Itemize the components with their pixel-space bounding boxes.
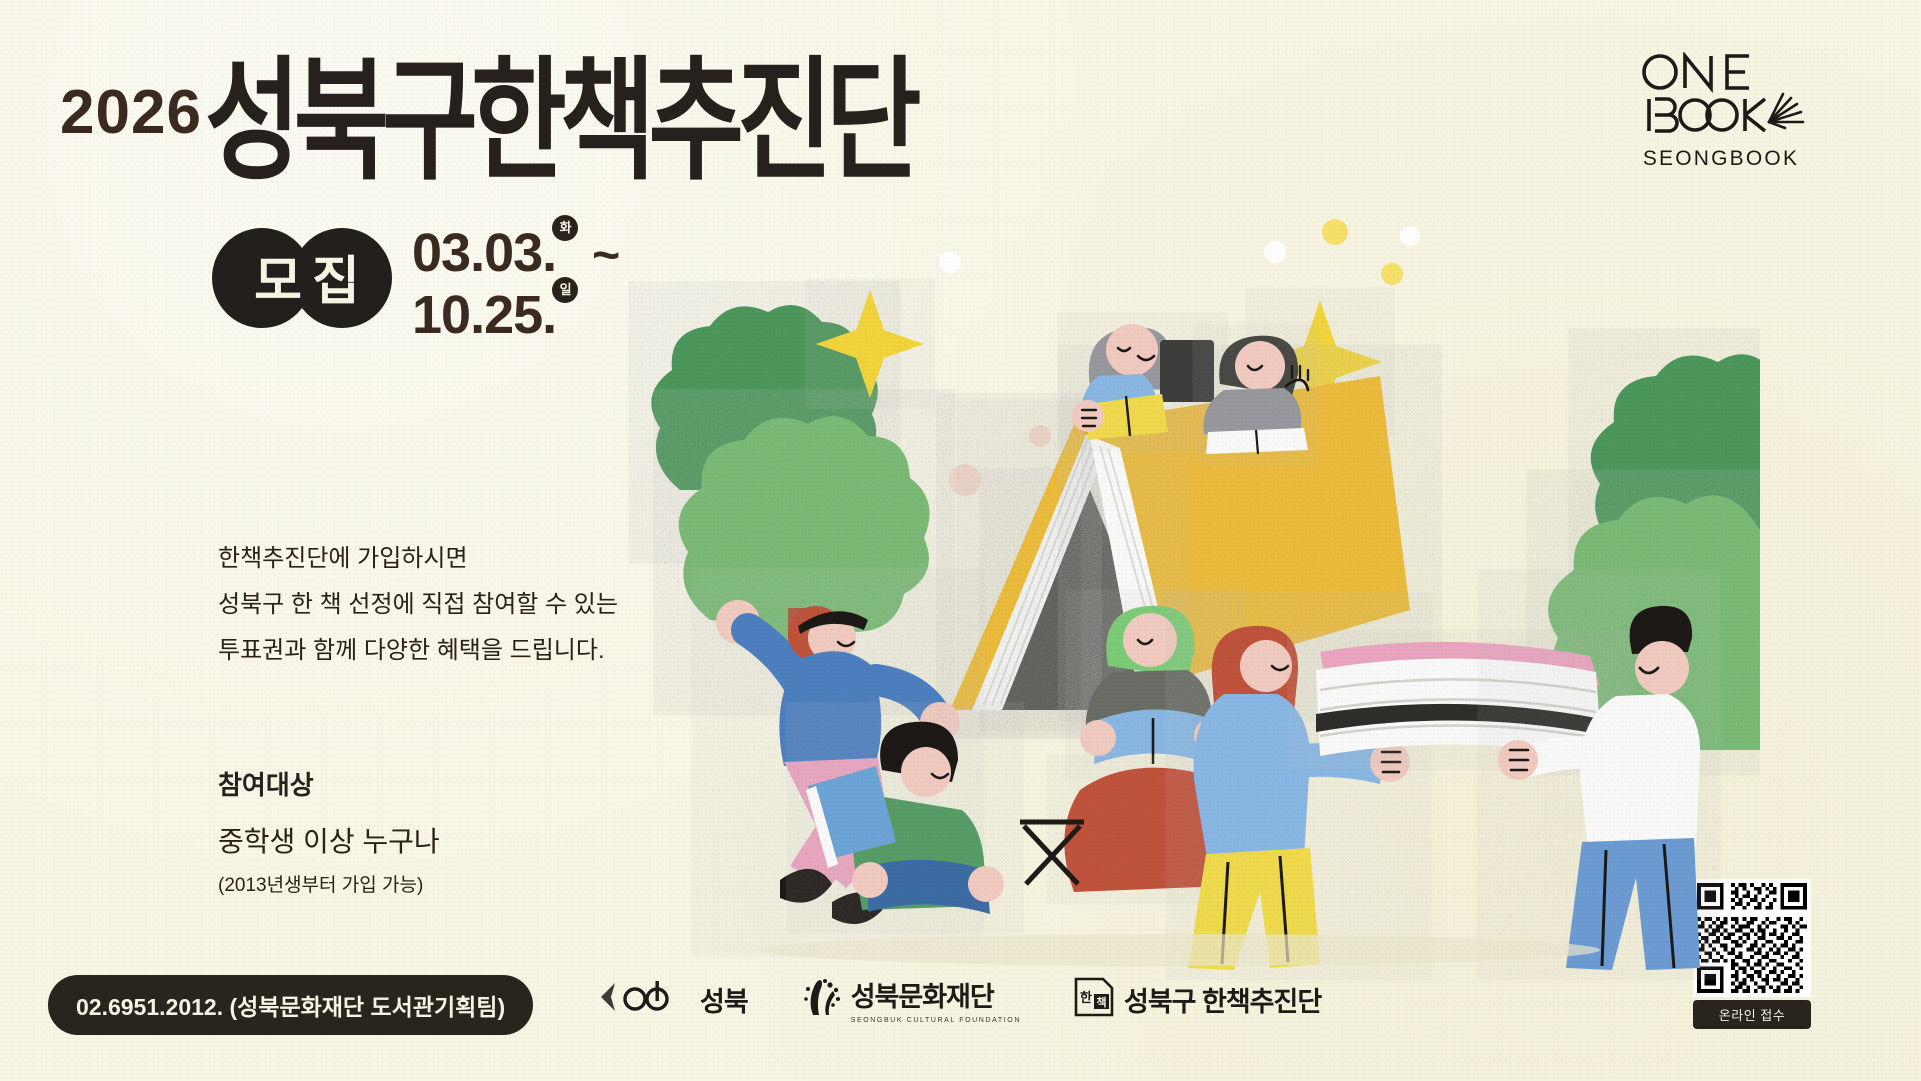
hanchaek-mark-icon: 한 책 xyxy=(1073,976,1115,1023)
date-end-day-badge: 일 xyxy=(552,277,578,303)
ground-shadow xyxy=(760,934,1600,966)
illustration xyxy=(620,190,1760,980)
logo-hanchaek: 한 책 성북구 한책추진단 xyxy=(1073,976,1321,1023)
logo-foundation-sublabel: SEONGBUK CULTURAL FOUNDATION xyxy=(851,1017,1021,1024)
partner-logos: 성북 성북문화재단 SEONGBUK CULTURAL FOUNDA xyxy=(595,975,1321,1024)
body-line-1: 한책추진단에 가입하시면 xyxy=(218,545,618,574)
dot-peach-2 xyxy=(1029,425,1051,447)
qr-label[interactable]: 온라인 접수 xyxy=(1693,1000,1811,1029)
poster-year: 2026 xyxy=(60,82,202,144)
body-copy: 한책추진단에 가입하시면 성북구 한 책 선정에 직접 참여할 수 있는 투표권… xyxy=(218,545,618,682)
dot-white-2 xyxy=(1264,241,1286,263)
poster-headline: 성북구한책추진단 xyxy=(205,62,914,184)
recruitment-dates: 03.03.화~ 10.25.일 xyxy=(412,222,619,346)
badge-label: 모집 xyxy=(244,239,370,314)
target-title: 참여대상 xyxy=(218,765,440,802)
logo-seongbuk-foundation: 성북문화재단 SEONGBUK CULTURAL FOUNDATION xyxy=(800,975,1021,1024)
body-line-3: 투표권과 함께 다양한 혜택을 드립니다. xyxy=(218,637,618,666)
target-main: 중학생 이상 누구나 xyxy=(218,820,440,860)
one-book-wordmark-icon xyxy=(1633,52,1809,138)
target-note: (2013년생부터 가입 가능) xyxy=(218,870,440,897)
dot-white-1 xyxy=(939,251,961,273)
foundation-mark-icon xyxy=(800,977,842,1022)
date-end-line: 10.25.일 xyxy=(412,284,619,346)
one-book-subtitle: SEONGBOOK xyxy=(1633,147,1809,171)
body-line-2: 성북구 한 책 선정에 직접 참여할 수 있는 xyxy=(218,591,618,620)
logo-seongbuk-gu: 성북 xyxy=(595,979,748,1020)
date-separator: ~ xyxy=(592,229,619,282)
date-start-line: 03.03.화~ xyxy=(412,222,619,284)
dot-yellow-1 xyxy=(1322,219,1348,245)
poster-canvas: 2026 성북구한책추진단 모집 03.03.화~ 10.25.일 한책추진단에… xyxy=(0,0,1921,1081)
recruitment-badge: 모집 xyxy=(212,228,402,328)
date-start: 03.03. xyxy=(412,223,556,283)
svg-text:한: 한 xyxy=(1080,990,1092,1005)
logo-hanchaek-label: 성북구 한책추진단 xyxy=(1124,980,1321,1019)
svg-text:책: 책 xyxy=(1096,995,1106,1009)
figure-roof-desk xyxy=(1203,336,1308,454)
contact-pill: 02.6951.2012. (성북문화재단 도서관기획팀) xyxy=(48,975,533,1035)
date-start-day-badge: 화 xyxy=(552,215,578,241)
logo-seongbuk-gu-label: 성북 xyxy=(700,980,748,1019)
target-block: 참여대상 중학생 이상 누구나 (2013년생부터 가입 가능) xyxy=(218,765,440,897)
dot-peach-1 xyxy=(949,464,981,496)
date-end: 10.25. xyxy=(412,285,556,345)
sb-mark-icon xyxy=(595,979,691,1020)
one-book-logo: SEONGBOOK xyxy=(1633,52,1809,171)
dot-white-3 xyxy=(1400,226,1420,246)
logo-foundation-label: 성북문화재단 xyxy=(851,975,1021,1014)
dot-yellow-2 xyxy=(1381,263,1403,285)
